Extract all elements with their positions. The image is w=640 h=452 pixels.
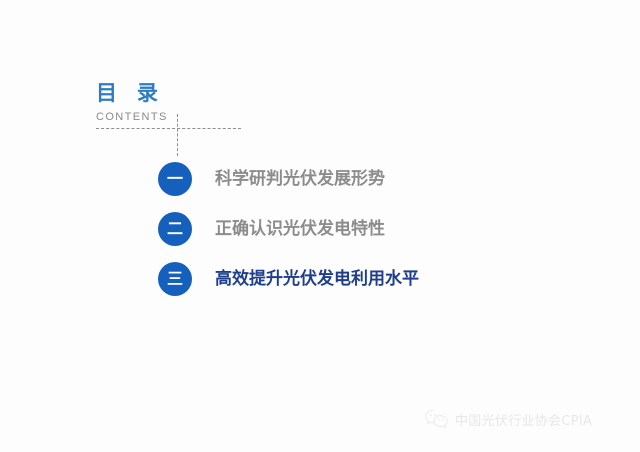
page-title: 目 录 [96,82,296,106]
watermark: 中国光伏行业协会CPIA [424,408,592,430]
list-item-label: 高效提升光伏发电利用水平 [215,269,419,289]
watermark-text: 中国光伏行业协会CPIA [455,410,592,429]
vertical-dashed-rule [177,114,178,156]
heading-block: 目 录 CONTENTS [96,82,296,124]
list-item[interactable]: 二 正确认识光伏发电特性 [158,211,578,247]
list-item[interactable]: 一 科学研判光伏发展形势 [158,161,578,197]
item-number-badge-3: 三 [158,262,192,296]
list-item-label: 科学研判光伏发展形势 [215,169,385,189]
item-number-badge-2: 二 [158,212,192,246]
horizontal-dashed-rule [96,128,241,129]
list-item[interactable]: 三 高效提升光伏发电利用水平 [158,261,578,297]
contents-list: 一 科学研判光伏发展形势 二 正确认识光伏发电特性 三 高效提升光伏发电利用水平 [158,161,578,311]
wechat-icon [424,408,450,430]
item-number-badge-1: 一 [158,162,192,196]
slide-canvas: 目 录 CONTENTS 一 科学研判光伏发展形势 二 正确认识光伏发电特性 三… [0,0,640,452]
page-subtitle: CONTENTS [96,110,296,124]
list-item-label: 正确认识光伏发电特性 [215,219,385,239]
